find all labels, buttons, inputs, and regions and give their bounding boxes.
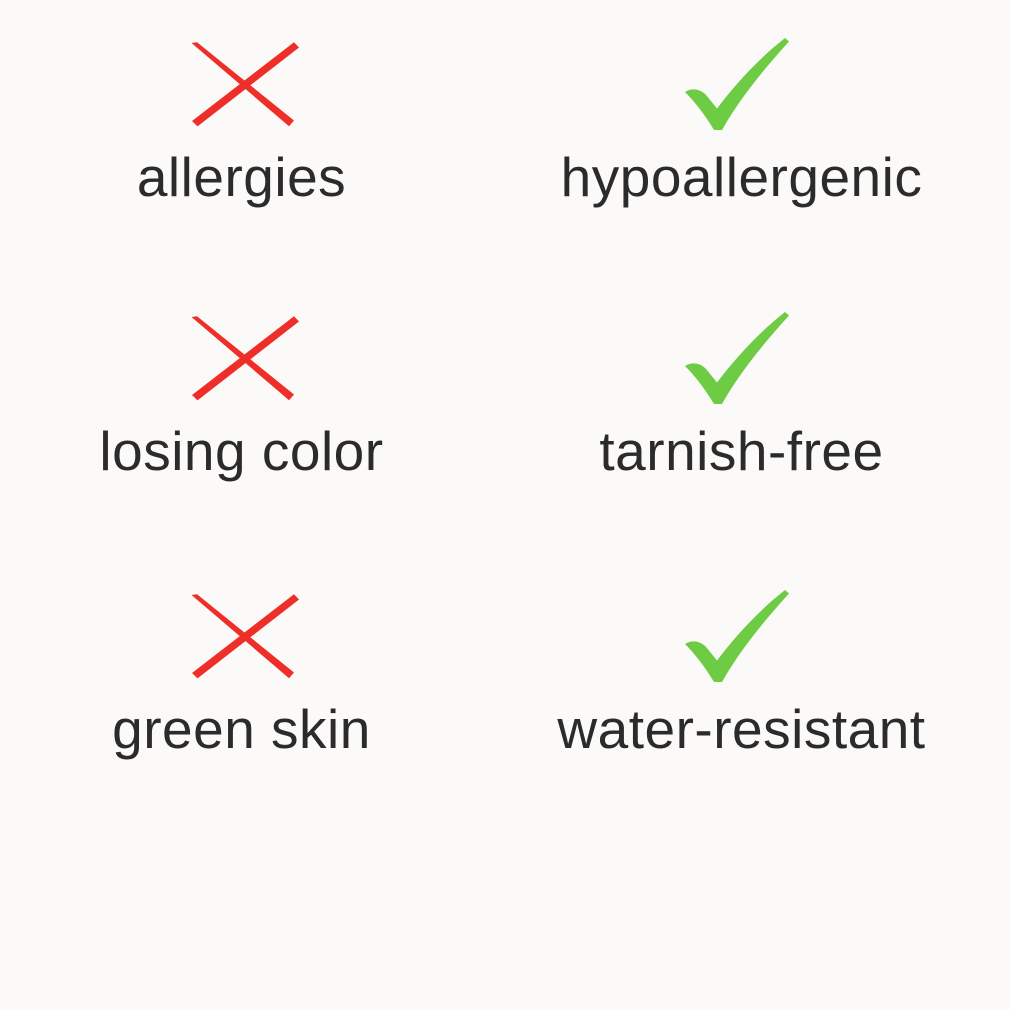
cross-icon [182,310,302,406]
cross-icon [182,588,302,684]
feature-label: allergies [137,150,346,205]
feature-label: green skin [112,702,371,757]
feature-cell-negative: losing color [0,279,494,558]
comparison-graphic: allergies hypoallergenic losing color [0,0,1010,1010]
check-icon [682,36,802,132]
check-icon [682,310,802,406]
feature-cell-positive: tarnish-free [489,279,994,558]
feature-cell-positive: hypoallergenic [489,0,994,279]
feature-cell-negative: allergies [0,0,494,279]
check-icon [682,588,802,684]
feature-label: water-resistant [557,702,925,757]
feature-cell-negative: green skin [0,557,494,836]
feature-label: tarnish-free [599,424,883,479]
comparison-grid: allergies hypoallergenic losing color [0,0,1010,836]
feature-label: hypoallergenic [561,150,923,205]
feature-cell-positive: water-resistant [489,557,994,836]
cross-icon [182,36,302,132]
feature-label: losing color [99,424,383,479]
